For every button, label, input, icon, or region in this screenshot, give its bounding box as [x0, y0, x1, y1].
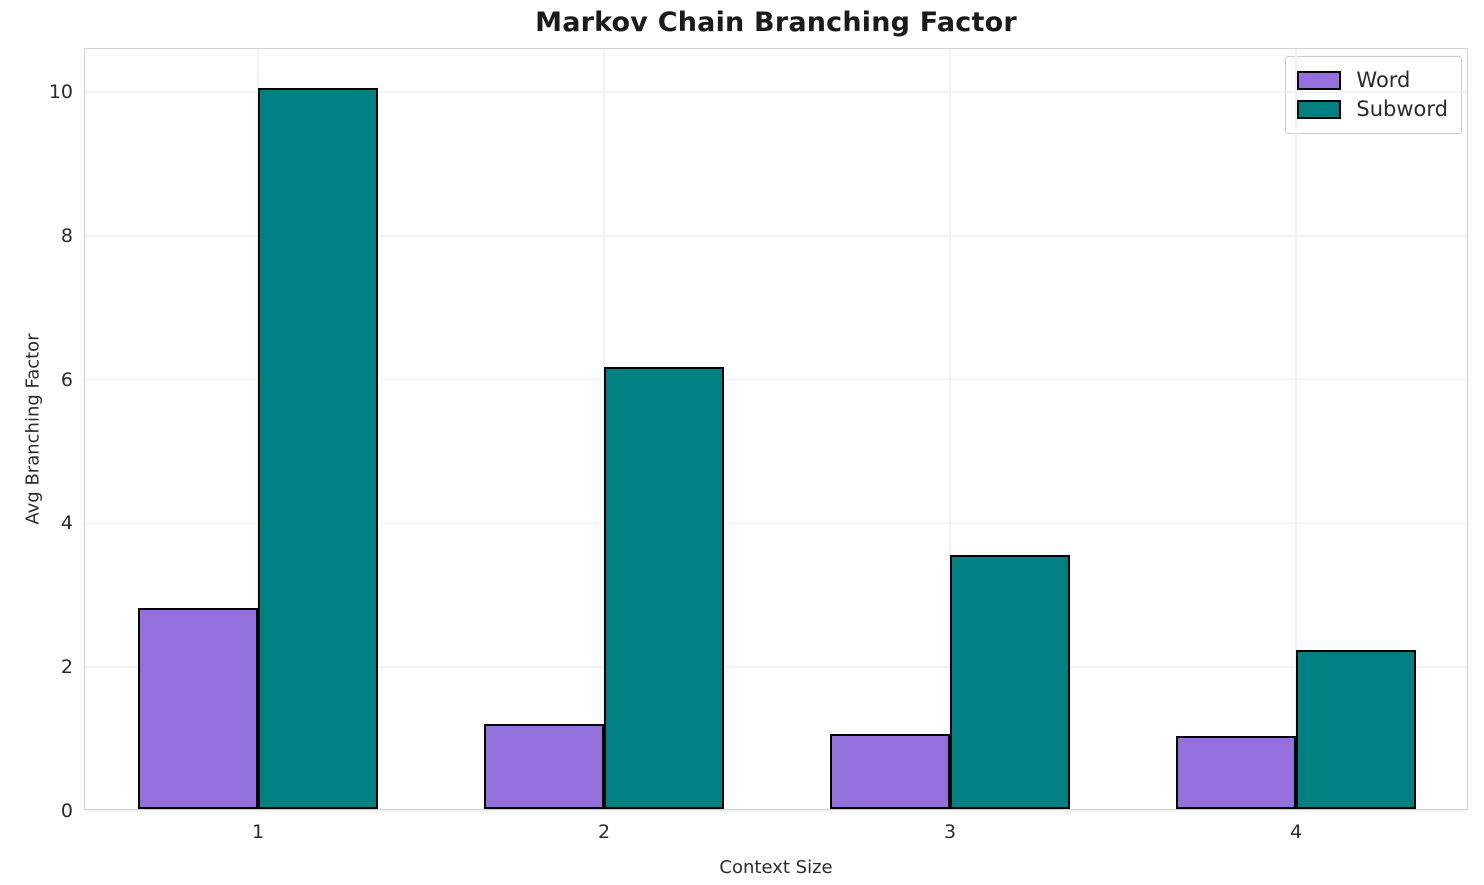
y-tick-label: 10 [11, 83, 73, 102]
x-tick-label: 2 [564, 823, 644, 842]
chart-figure: Markov Chain Branching Factor WordSubwor… [0, 0, 1484, 885]
y-tick-label: 2 [11, 658, 73, 677]
bar-word-2[interactable] [484, 724, 604, 809]
x-tick-label: 3 [910, 823, 990, 842]
y-tick-label: 8 [11, 227, 73, 246]
bar-word-1[interactable] [138, 608, 258, 809]
x-tick-label: 4 [1256, 823, 1336, 842]
legend-label: Subword [1356, 99, 1448, 120]
bar-word-4[interactable] [1176, 736, 1296, 809]
plot-area: WordSubword 02468101234Avg Branching Fac… [84, 48, 1468, 810]
legend-swatch-icon [1297, 100, 1341, 119]
y-gridline [85, 810, 1467, 812]
y-tick-label: 0 [11, 802, 73, 821]
bar-subword-4[interactable] [1296, 650, 1416, 809]
y-axis-label: Avg Branching Factor [23, 333, 44, 524]
bar-subword-2[interactable] [604, 367, 724, 809]
bar-subword-1[interactable] [258, 88, 378, 809]
x-tick-label: 1 [218, 823, 298, 842]
chart-legend: WordSubword [1285, 56, 1462, 134]
x-axis-label: Context Size [85, 857, 1467, 878]
chart-title: Markov Chain Branching Factor [84, 6, 1468, 40]
legend-label: Word [1356, 70, 1410, 91]
bar-subword-3[interactable] [950, 555, 1070, 809]
legend-swatch-icon [1297, 71, 1341, 90]
legend-item-subword[interactable]: Subword [1297, 95, 1448, 124]
bar-word-3[interactable] [830, 734, 950, 809]
